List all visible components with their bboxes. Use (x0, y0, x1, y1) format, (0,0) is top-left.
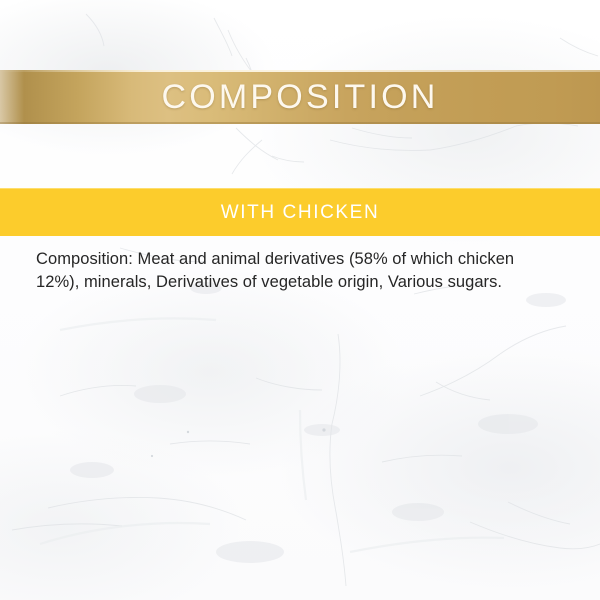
flavour-label: WITH CHICKEN (221, 203, 380, 222)
page-title: COMPOSITION (162, 80, 439, 114)
flavour-subtitle-bar: WITH CHICKEN (0, 188, 600, 236)
composition-ingredients-text: Composition: Meat and animal derivatives… (36, 248, 560, 293)
product-composition-panel: COMPOSITION WITH CHICKEN Composition: Me… (0, 0, 600, 600)
composition-banner: COMPOSITION (0, 70, 600, 124)
